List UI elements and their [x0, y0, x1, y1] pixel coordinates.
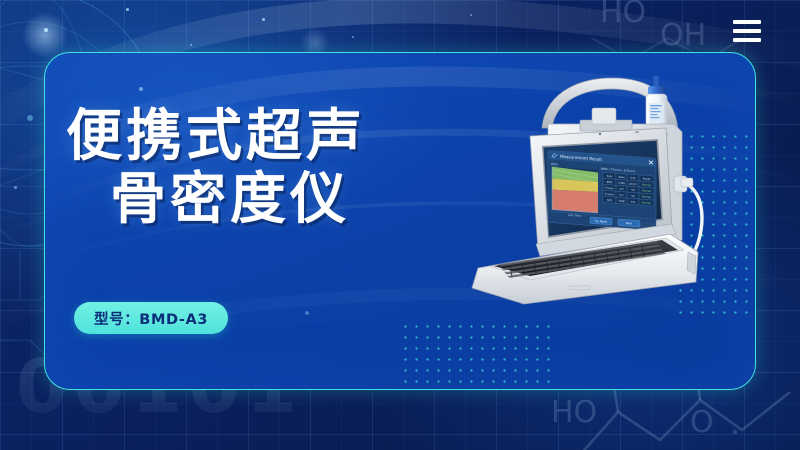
svg-text:Item: Item [607, 175, 613, 178]
model-badge-label: 型号：BMD-A3 [94, 308, 208, 329]
svg-text:1538: 1538 [618, 200, 625, 203]
dot-pattern-bottom [400, 321, 550, 389]
svg-text:0.2: 0.2 [620, 194, 624, 197]
headline-line-1: 便携式超声 [66, 104, 366, 169]
hamburger-bar [733, 20, 761, 24]
hamburger-bar [733, 29, 761, 33]
particle-dot [470, 14, 472, 16]
svg-text:HO: HO [551, 395, 597, 430]
svg-text:-0.7: -0.7 [619, 188, 624, 191]
svg-text:BMD: BMD [551, 162, 558, 167]
svg-text:SD: SD [631, 195, 635, 198]
headline-line-2: 骨密度仪 [110, 169, 466, 232]
particle-dot [352, 36, 354, 38]
svg-text:SD: SD [631, 189, 635, 192]
svg-text:Result: Result [643, 177, 650, 181]
svg-text:HO: HO [600, 0, 646, 30]
particle-dot [14, 186, 17, 189]
svg-text:g/cm2: g/cm2 [629, 182, 637, 186]
particle-dot [44, 28, 48, 32]
svg-text:0.482: 0.482 [618, 182, 625, 186]
svg-text:SOS: SOS [607, 199, 612, 202]
svg-text:m/s: m/s [631, 201, 636, 204]
svg-text:Value: Value [618, 176, 625, 180]
particle-glow [22, 12, 68, 58]
particle-dot [126, 8, 129, 11]
device-photo: Measurement Result BMD [460, 72, 710, 312]
probe-connector [681, 178, 693, 187]
svg-text:Unit: Unit [631, 177, 636, 180]
hamburger-menu-icon[interactable] [733, 20, 761, 42]
screen-ui: Measurement Result BMD [548, 150, 656, 230]
svg-text:BMD: BMD [607, 181, 613, 184]
svg-text:Next: Next [626, 221, 632, 225]
page-title: 便携式超声 骨密度仪 [66, 106, 466, 231]
poster-stage: 00101 HO O OH HO [0, 0, 800, 450]
ultrasound-gel-bottle [646, 76, 667, 132]
particle-dot [190, 44, 192, 46]
particle-dot [262, 18, 265, 21]
svg-text:O: O [690, 405, 714, 440]
model-badge: 型号：BMD-A3 [74, 302, 228, 334]
hamburger-bar [733, 38, 761, 42]
